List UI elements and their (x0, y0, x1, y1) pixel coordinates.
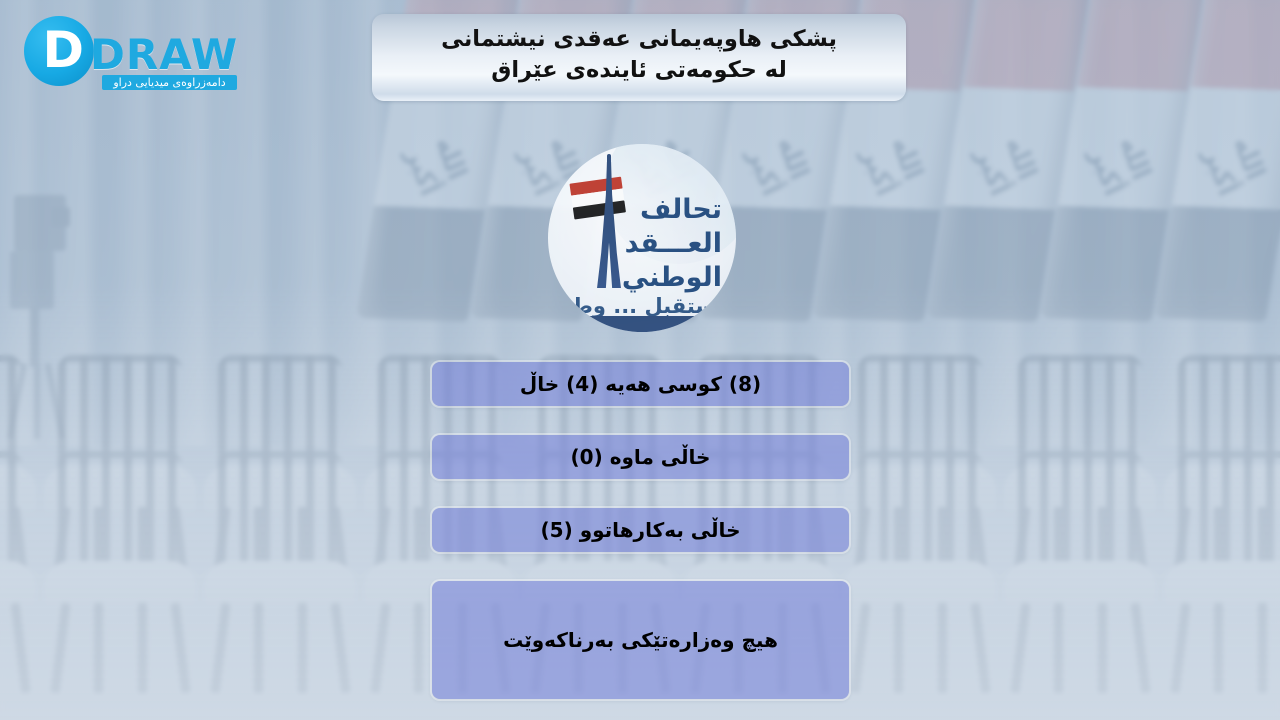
coalition-name-line-2: العـــقد (625, 228, 722, 259)
draw-subtitle: دامەزراوەی میدیایی دراو (102, 75, 237, 90)
coalition-name-line-1: تحالف (640, 194, 722, 225)
title-banner: پشکی هاوپەیمانی عەقدی نیشتمانی لە حکومەت… (372, 14, 906, 101)
draw-logo[interactable]: D DRAW دامەزراوەی میدیایی دراو (16, 14, 241, 88)
draw-wordmark: DRAW (90, 30, 238, 79)
stat-bar-points-used[interactable]: خاڵی بەکارهاتوو (5) (432, 508, 849, 552)
title-line-1: پشکی هاوپەیمانی عەقدی نیشتمانی (441, 24, 837, 54)
stats-list: (8) کوسی هەیە (4) خاڵ خاڵی ماوە (0) خاڵی… (432, 362, 849, 699)
coalition-logo: تحالف العـــقد الوطني مستقبل ... وطن (548, 144, 736, 332)
logo-foot-band (548, 316, 736, 332)
stat-bar-points-left[interactable]: خاڵی ماوە (0) (432, 435, 849, 479)
stat-bar-seats[interactable]: (8) کوسی هەیە (4) خاڵ (432, 362, 849, 406)
stat-bar-no-ministry[interactable]: هیچ وەزارەتێکی بەرناکەوێت (432, 581, 849, 699)
mini-iraqi-flag-icon (569, 177, 626, 224)
draw-letter-d: D (38, 30, 84, 72)
title-line-2: لە حکومەتی ئایندەی عێراق (491, 55, 787, 85)
